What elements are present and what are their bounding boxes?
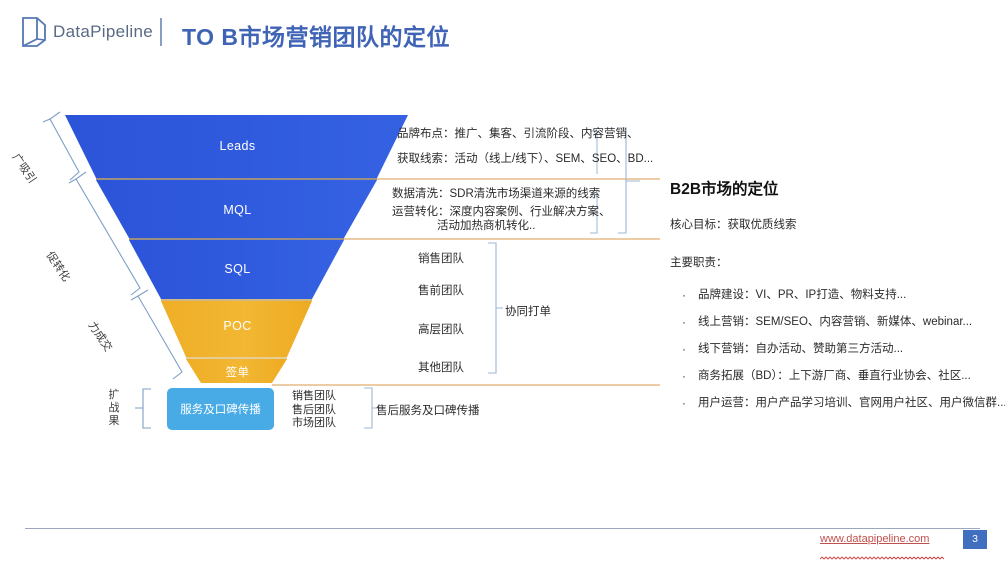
service-outcome-label: 售后服务及口碑传播 (376, 402, 480, 418)
duty-text: 商务拓展（BD）：上下游厂商、垂直行业协会、社区... (698, 370, 971, 382)
annotation-ops-conversion: 运营转化：深度内容案例、行业解决方案、 (392, 205, 611, 220)
bracket-teams (488, 243, 503, 373)
bracket-expand (135, 389, 151, 428)
slide-canvas: DataPipeline TO B市场营销团队的定位 (0, 0, 1005, 563)
duty-text: 用户运营：用户产品学习培训、官网用户社区、用户微信群... (698, 397, 1005, 409)
bullet-icon: · (682, 343, 686, 357)
bullet-icon: · (682, 397, 686, 411)
funnel-label-poc: POC (205, 319, 270, 333)
funnel-label-leads: Leads (205, 139, 270, 153)
funnel-label-mql: MQL (205, 203, 270, 217)
service-word-of-mouth-box: 服务及口碑传播 (167, 388, 274, 430)
annotation-data-cleaning: 数据清洗：SDR清洗市场渠道来源的线索 (392, 187, 600, 202)
duty-item-offline-marketing: · 线下营销：自办活动、赞助第三方活动... (676, 342, 1005, 369)
duty-text: 线上营销：SEM/SEO、内容营销、新媒体、webinar... (698, 316, 972, 328)
b2b-duties-label: 主要职责： (670, 254, 728, 270)
funnel-label-qiandan: 签单 (205, 364, 270, 380)
stage-side-label-expand: 扩战果 (106, 389, 122, 428)
footer-divider (25, 528, 980, 529)
b2b-duties-list: · 品牌建设：VI、PR、IP打造、物料支持... · 线上营销：SEM/SEO… (676, 288, 1005, 423)
bullet-icon: · (682, 289, 686, 303)
duty-item-online-marketing: · 线上营销：SEM/SEO、内容营销、新媒体、webinar... (676, 315, 1005, 342)
service-team-aftersales: 售后团队 (292, 404, 336, 418)
team-other: 其他团队 (418, 359, 464, 375)
team-presales: 售前团队 (418, 282, 464, 298)
funnel-label-sql: SQL (205, 262, 270, 276)
service-box-label: 服务及口碑传播 (167, 401, 274, 417)
spellcheck-underline-icon (820, 547, 944, 550)
annotation-ops-conversion-cont: 活动加热商机转化.. (437, 219, 535, 234)
duty-item-brand: · 品牌建设：VI、PR、IP打造、物料支持... (676, 288, 1005, 315)
service-team-sales: 销售团队 (292, 390, 336, 404)
teams-group-label: 协同打单 (505, 303, 551, 319)
annotation-brand-layout: 品牌布点：推广、集客、引流阶段、内容营销、 (397, 127, 639, 142)
page-number: 3 (963, 533, 987, 545)
duty-text: 线下营销：自办活动、赞助第三方活动... (698, 343, 903, 355)
footer-website-link[interactable]: www.datapipeline.com (820, 533, 929, 545)
service-team-marketing: 市场团队 (292, 417, 336, 431)
annotation-lead-acquisition: 获取线索：活动（线上/线下）、SEM、SEO、BD... (397, 152, 653, 167)
duty-text: 品牌建设：VI、PR、IP打造、物料支持... (698, 289, 906, 301)
page-number-badge: 3 (963, 530, 987, 549)
team-executive: 高层团队 (418, 321, 464, 337)
funnel-diagram: Leads MQL SQL POC 签单 广吸引 促转化 力成交 扩战果 服务及… (0, 0, 470, 470)
team-sales: 销售团队 (418, 250, 464, 266)
service-team-list: 销售团队 售后团队 市场团队 (292, 390, 336, 431)
bracket-b2b (618, 128, 640, 233)
bullet-icon: · (682, 316, 686, 330)
bullet-icon: · (682, 370, 686, 384)
duty-item-user-operations: · 用户运营：用户产品学习培训、官网用户社区、用户微信群... (676, 396, 1005, 423)
b2b-core-goal: 核心目标：获取优质线索 (670, 216, 797, 232)
duty-item-business-development: · 商务拓展（BD）：上下游厂商、垂直行业协会、社区... (676, 369, 1005, 396)
b2b-panel-title: B2B市场的定位 (670, 177, 779, 199)
